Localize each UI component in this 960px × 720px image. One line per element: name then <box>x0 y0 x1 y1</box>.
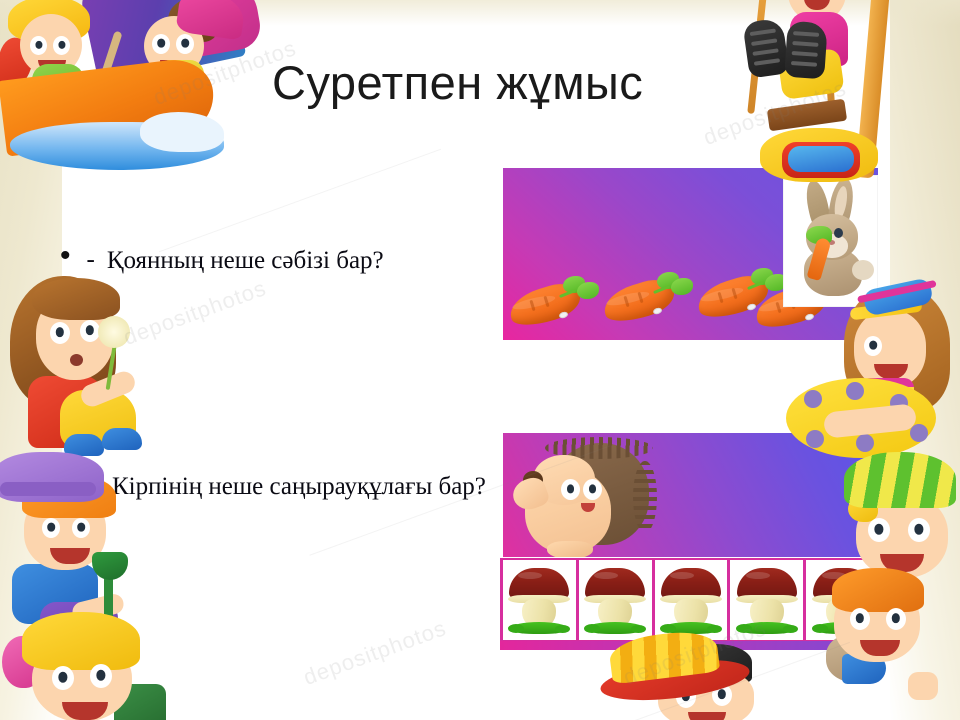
water-wave <box>10 122 224 170</box>
kid-smile <box>688 712 726 720</box>
carrot-seed <box>652 307 662 315</box>
hedgehog-eye-right <box>583 479 602 500</box>
goggles-lens <box>788 146 854 172</box>
swim-ring-dot <box>910 424 928 442</box>
mushroom-cap <box>661 568 721 598</box>
carrot-icon <box>603 268 695 330</box>
kid-hat-green-striped <box>844 452 956 508</box>
girl-eye-right <box>80 320 100 342</box>
carrot-seed <box>804 313 814 321</box>
kid-eye-right <box>176 34 194 54</box>
boy-hair-red <box>832 568 924 612</box>
boy-eye-left <box>42 518 60 538</box>
watermark-text: depositphotos <box>300 615 450 691</box>
hedgehog-foot <box>547 541 593 557</box>
mushroom-grass <box>739 622 795 634</box>
boy-fist <box>908 672 938 700</box>
hedgehog-eye-left <box>561 479 580 500</box>
carrot-leaf <box>577 282 599 299</box>
question-2-text: Кірпінің неше саңырауқұлағы бар? <box>112 472 512 502</box>
girl-with-swim-ring-illustration <box>830 282 960 472</box>
swim-ring-dot <box>806 430 824 448</box>
page-title: Суретпен жұмыс <box>272 58 643 107</box>
girl-eye-left <box>50 322 70 344</box>
carrot-seed <box>558 311 568 319</box>
mushroom-icon <box>507 566 571 636</box>
swim-ring-dot <box>804 390 822 408</box>
kid-eye-left <box>30 36 47 55</box>
kid-eye-right <box>908 518 930 542</box>
kid-eye-left <box>152 34 170 54</box>
mushroom-cell <box>500 558 579 642</box>
swim-ring-dot <box>846 382 864 400</box>
rabbit-eye <box>834 228 843 238</box>
kid-eye-right <box>53 36 70 55</box>
girl-fringe <box>32 278 120 320</box>
red-haired-boy-illustration <box>812 568 942 720</box>
mushroom-icon <box>659 566 723 636</box>
girl-eye <box>864 336 882 356</box>
rabbit-tail <box>852 260 874 280</box>
kid-smile <box>804 0 830 10</box>
mushroom-cap <box>509 568 569 598</box>
kid-hair-blonde <box>22 612 140 670</box>
blonde-kid-illustration <box>14 612 174 720</box>
swim-ring-dot <box>856 434 874 452</box>
mushroom-cell <box>730 558 806 642</box>
dandelion-puff <box>98 316 130 348</box>
carrot-leaf <box>671 278 693 295</box>
kid-shoe-right <box>784 21 828 80</box>
kid-with-straw-hat-illustration <box>600 640 780 720</box>
girl-shoe-right <box>102 428 142 450</box>
mushroom-cell <box>655 558 731 642</box>
mushroom-icon <box>583 566 647 636</box>
mushroom-icon <box>735 566 799 636</box>
mushroom-grass <box>511 622 567 634</box>
two-kids-in-sailboat-illustration <box>0 0 250 190</box>
girl-with-dandelion-illustration <box>6 268 156 468</box>
boy-eye-right <box>886 608 906 630</box>
hedgehog-icon <box>519 441 649 557</box>
boy-eye-right <box>72 518 90 538</box>
kid-with-swim-goggles-illustration <box>760 118 880 188</box>
carrot-icon <box>509 272 601 334</box>
kid-shoe-left <box>742 17 789 78</box>
boy-hat-band <box>0 482 96 496</box>
kid-eye-left <box>868 518 890 542</box>
slide-canvas: Суретпен жұмыс • - Қоянның неше сәбізі б… <box>0 0 960 720</box>
kid-eye-left <box>52 666 74 690</box>
mushroom-cap <box>737 568 797 598</box>
bullet-marker-icon: • <box>60 242 71 270</box>
mushroom-cap <box>585 568 645 598</box>
mushroom-grass <box>587 622 643 634</box>
kid-eye-right <box>90 664 112 688</box>
boy-eye-left <box>850 608 870 630</box>
mushroom-cell <box>579 558 655 642</box>
girl-mouth <box>70 354 83 366</box>
